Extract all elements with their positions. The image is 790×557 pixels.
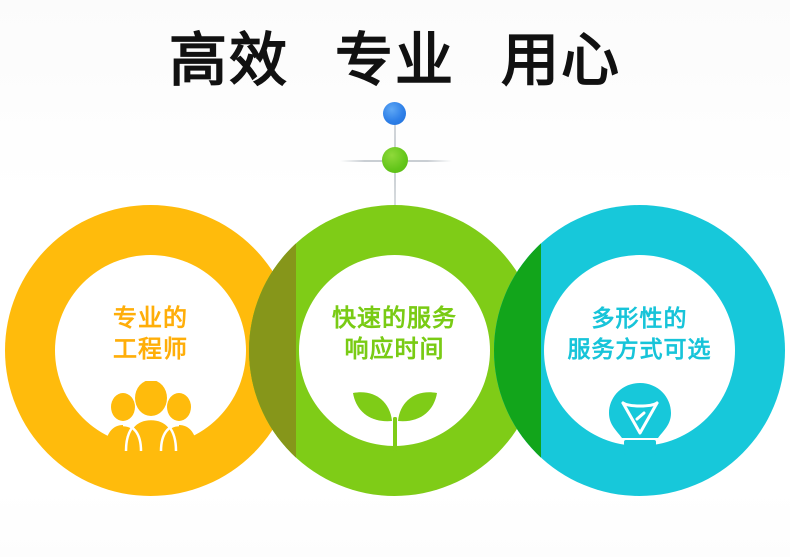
ring-inner-hole [544,255,735,446]
ring-inner-hole [299,255,490,446]
headline-word-2: 专业 [335,30,455,92]
ring-flexible-service-options[interactable] [494,205,785,496]
headline-word-1: 高效 [169,30,289,92]
green-dot-icon [382,147,408,173]
ring-inner-hole [55,255,246,446]
blue-dot-icon [383,102,406,125]
infographic-canvas: 高效专业用心 专业的 工程师 [0,0,790,557]
page-title: 高效专业用心 [0,30,790,92]
headline-word-3: 用心 [501,30,621,92]
